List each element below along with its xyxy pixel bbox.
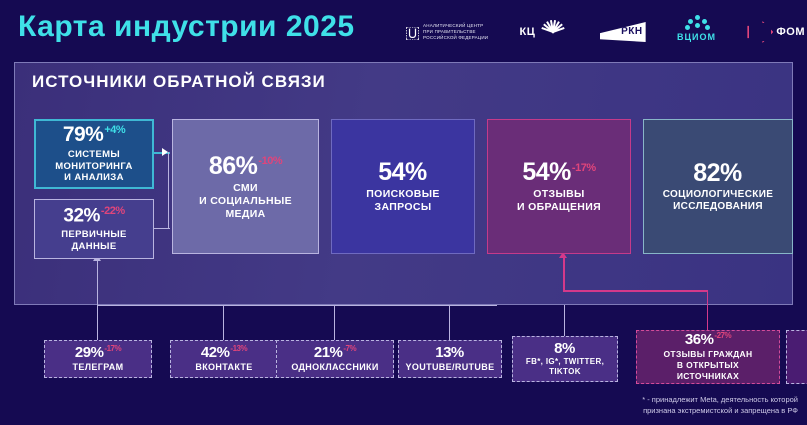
source-chip-vkontakte-label: ВКОНТАКТЕ [195, 362, 252, 373]
connector-b6-v [707, 290, 708, 330]
logo-analytical-center-label: АНАЛИТИЧЕСКИЙ ЦЕНТР ПРИ ПРАВИТЕЛЬСТВЕ РО… [423, 23, 488, 41]
source-chip-open-sources-delta: -27% [714, 331, 731, 340]
logo-kc-label: КЦ [520, 26, 536, 38]
source-chip-telegram-pct: 29% [75, 344, 104, 361]
card-primary-data-value: 32%-22% [63, 206, 124, 226]
source-chip-open-sources[interactable]: 36%-27% ОТЗЫВЫ ГРАЖДАН В ОТКРЫТЫХ ИСТОЧН… [636, 330, 780, 384]
card-media[interactable]: 86%-10% СМИ И СОЦИАЛЬНЫЕ МЕДИА [172, 119, 319, 254]
card-primary-data-pct: 32% [63, 205, 100, 226]
logo-kc: КЦ [520, 15, 569, 49]
card-media-value: 86%-10% [209, 153, 282, 179]
logo-fom-label: ФОМ [776, 26, 805, 38]
card-media-label: СМИ И СОЦИАЛЬНЫЕ МЕДИА [199, 182, 292, 220]
card-monitoring-pct: 79% [63, 123, 104, 146]
card-primary-data-delta: -22% [101, 205, 125, 217]
vciom-tree-icon [685, 15, 709, 31]
card-media-pct: 86% [209, 152, 258, 180]
logo-vciom-label: ВЦИОМ [677, 32, 716, 42]
source-chip-vkontakte[interactable]: 42%-13% ВКОНТАКТЕ [170, 340, 278, 378]
panel-title: ИСТОЧНИКИ ОБРАТНОЙ СВЯЗИ [32, 72, 326, 92]
source-chip-youtube-rutube-pct: 13% [435, 344, 464, 361]
source-chip-vkontakte-pct: 42% [201, 344, 230, 361]
connector-primary-up [97, 260, 98, 306]
source-chip-telegram-delta: -17% [104, 344, 121, 353]
card-search-queries-label: ПОИСКОВЫЕ ЗАПРОСЫ [366, 188, 439, 214]
card-sociology[interactable]: 82% СОЦИОЛОГИЧЕСКИЕ ИССЛЕДОВАНИЯ [643, 119, 793, 254]
card-monitoring[interactable]: 79%+4% СИСТЕМЫ МОНИТОРИНГА И АНАЛИЗА [34, 119, 154, 189]
card-media-delta: -10% [258, 155, 282, 167]
connector-bus-h [97, 305, 497, 306]
double-eagle-icon: 🇺 [405, 24, 420, 41]
source-chip-foreign-social-pct: 8% [554, 340, 575, 357]
card-monitoring-label: СИСТЕМЫ МОНИТОРИНГА И АНАЛИЗА [55, 149, 132, 184]
card-primary-data-label: ПЕРВИЧНЫЕ ДАННЫЕ [61, 229, 127, 252]
card-reviews-appeals[interactable]: 54%-17% ОТЗЫВЫ И ОБРАЩЕНИЯ [487, 119, 631, 254]
connector-b4-v [449, 305, 450, 340]
source-chip-telegram[interactable]: 29%-17% ТЕЛЕГРАМ [44, 340, 152, 378]
logo-rkn-label: РКН [621, 26, 643, 37]
connector-merge-v [168, 152, 169, 229]
source-chip-youtube-rutube-value: 13% [435, 345, 465, 361]
source-chip-odnoklassniki-value: 21%-7% [314, 345, 356, 361]
source-chip-open-sources-pct: 36% [685, 331, 714, 348]
connector-b6-h [563, 290, 708, 292]
fom-arrow-icon [747, 21, 773, 43]
source-chip-youtube-rutube[interactable]: 13% YOUTUBE/RUTUBE [398, 340, 502, 378]
source-chip-odnoklassniki[interactable]: 21%-7% ОДНОКЛАССНИКИ [276, 340, 394, 378]
card-monitoring-value: 79%+4% [63, 124, 125, 146]
source-chip-vkontakte-delta: -13% [230, 344, 247, 353]
card-search-queries-pct: 54% [378, 158, 427, 186]
source-chip-telegram-label: ТЕЛЕГРАМ [73, 362, 124, 373]
card-search-queries[interactable]: 54% ПОИСКОВЫЕ ЗАПРОСЫ [331, 119, 475, 254]
source-chip-youtube-rutube-label: YOUTUBE/RUTUBE [406, 362, 495, 373]
logo-fom: ФОМ [747, 15, 805, 49]
page-title: Карта индустрии 2025 [18, 10, 355, 44]
logo-vciom: ВЦИОМ [677, 15, 716, 49]
card-sociology-pct: 82% [693, 159, 742, 187]
card-search-queries-value: 54% [378, 159, 428, 185]
source-chip-foreign-social-label: FB*, IG*, TWITTER, TIKTOK [526, 357, 604, 377]
source-chip-open-sources-label: ОТЗЫВЫ ГРАЖДАН В ОТКРЫТЫХ ИСТОЧНИКАХ [663, 349, 752, 382]
source-chip-foreign-social[interactable]: 8% FB*, IG*, TWITTER, TIKTOK [512, 336, 618, 382]
card-reviews-appeals-label: ОТЗЫВЫ И ОБРАЩЕНИЯ [517, 188, 601, 214]
card-sociology-value: 82% [693, 160, 743, 186]
connector-b6-up [563, 258, 565, 291]
card-reviews-appeals-value: 54%-17% [522, 159, 595, 185]
source-chip-open-sources-value: 36%-27% [685, 332, 731, 348]
card-reviews-appeals-pct: 54% [522, 158, 571, 186]
source-chip-odnoklassniki-label: ОДНОКЛАССНИКИ [291, 362, 378, 373]
card-reviews-appeals-delta: -17% [572, 162, 596, 174]
rkn-wedge-icon: РКН [600, 22, 646, 42]
connector-b5-v [564, 305, 565, 336]
page-header: Карта индустрии 2025 🇺 АНАЛИТИЧЕСКИЙ ЦЕН… [0, 0, 807, 62]
source-chip-vkontakte-value: 42%-13% [201, 345, 247, 361]
source-chip-telegram-value: 29%-17% [75, 345, 121, 361]
connector-b2-v [223, 305, 224, 340]
logo-analytical-center: 🇺 АНАЛИТИЧЕСКИЙ ЦЕНТР ПРИ ПРАВИТЕЛЬСТВЕ … [405, 15, 488, 49]
logo-rkn: РКН [600, 15, 646, 49]
card-sociology-label: СОЦИОЛОГИЧЕСКИЕ ИССЛЕДОВАНИЯ [663, 189, 774, 213]
footnote: * - принадлежит Meta, деятельность котор… [498, 394, 798, 417]
card-primary-data[interactable]: 32%-22% ПЕРВИЧНЫЕ ДАННЫЕ [34, 199, 154, 259]
source-chip-odnoklassniki-delta: -7% [343, 344, 356, 353]
card-monitoring-delta: +4% [104, 124, 125, 136]
connector-b3-v [334, 305, 335, 340]
kc-rays-icon [538, 18, 568, 46]
source-chip-odnoklassniki-pct: 21% [314, 344, 343, 361]
source-chip-foreign-social-value: 8% [554, 341, 576, 357]
logo-strip: 🇺 АНАЛИТИЧЕСКИЙ ЦЕНТР ПРИ ПРАВИТЕЛЬСТВЕ … [405, 12, 805, 52]
source-chip-offscreen[interactable]: О [786, 330, 807, 384]
connector-arrow-media [162, 148, 168, 156]
